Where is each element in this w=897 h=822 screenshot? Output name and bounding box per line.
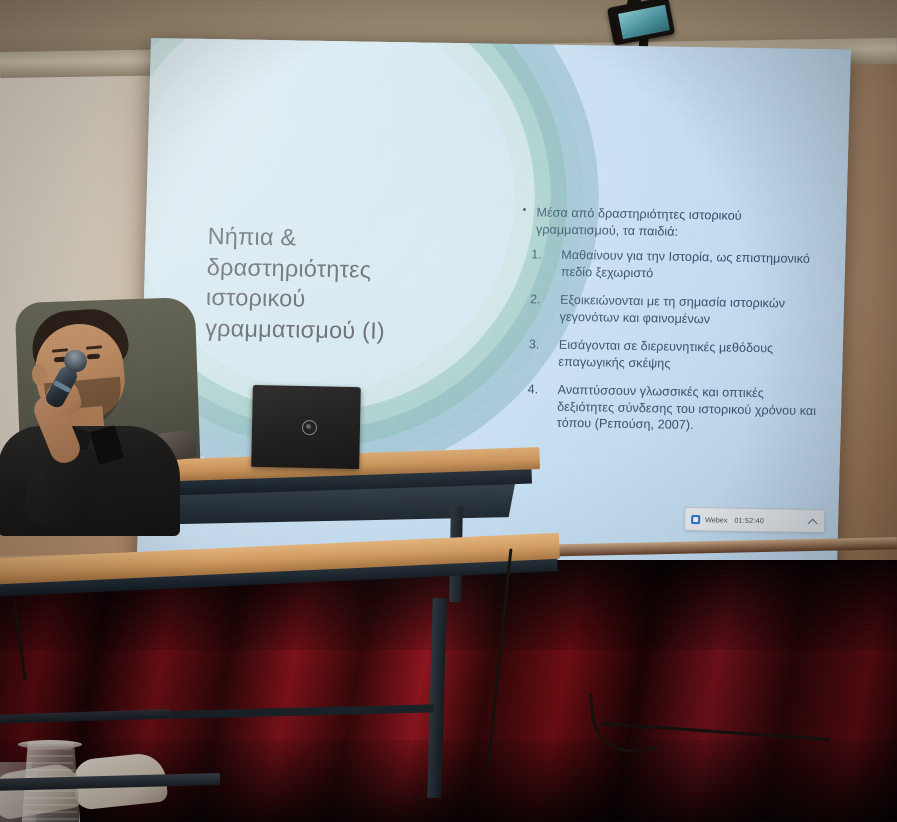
presenter [0, 300, 240, 530]
list-item-text: Αναπτύσσουν γλωσσικές και οπτικές δεξιότ… [557, 382, 817, 432]
list-item-number: 3. [529, 336, 553, 353]
list-item-text: Εισάγονται σε διερευνητικές μεθόδους επα… [558, 338, 773, 371]
list-item-text: Εξοικειώνονται με τη σημασία ιστορικών γ… [559, 293, 785, 326]
list-item-number: 4. [527, 381, 551, 398]
list-item: 2. Εξοικειώνονται με τη σημασία ιστορικώ… [517, 291, 824, 330]
laptop [251, 385, 361, 469]
plastic-cup-rim [18, 740, 82, 749]
webex-meeting-timer: 01:52:40 [734, 515, 764, 524]
slide-bullet-list: Μέσα από δραστηριότητες ιστορικού γραμμα… [514, 204, 826, 447]
list-item: 1. Μαθαίνουν για την Ιστορία, ως επιστημ… [519, 247, 826, 286]
webex-logo-icon [691, 514, 700, 523]
list-item: 3. Εισάγονται σε διερευνητικές μεθόδους … [516, 336, 823, 375]
list-item-number: 1. [531, 247, 555, 264]
front-desk-leg-right [427, 598, 447, 798]
list-item: 4. Αναπτύσσουν γλωσσικές και οπτικές δεξ… [514, 381, 821, 437]
chevron-up-icon[interactable] [808, 516, 817, 525]
list-item-text: Μαθαίνουν για την Ιστορία, ως επιστημονι… [561, 248, 810, 280]
presentation-photo-scene: Νήπια & δραστηριότητες ιστορικού γραμματ… [0, 0, 897, 822]
spotlight-fixture [596, 0, 692, 48]
webex-floating-bar[interactable]: Webex 01:52:40 [684, 507, 826, 533]
list-item-number: 2. [530, 292, 554, 309]
presenter-eye-right [87, 354, 100, 360]
slide-lead-bullet: Μέσα από δραστηριότητες ιστορικού γραμμα… [520, 204, 827, 243]
webex-app-name: Webex [705, 515, 727, 524]
slide-title: Νήπια & δραστηριότητες ιστορικού γραμματ… [205, 221, 456, 347]
